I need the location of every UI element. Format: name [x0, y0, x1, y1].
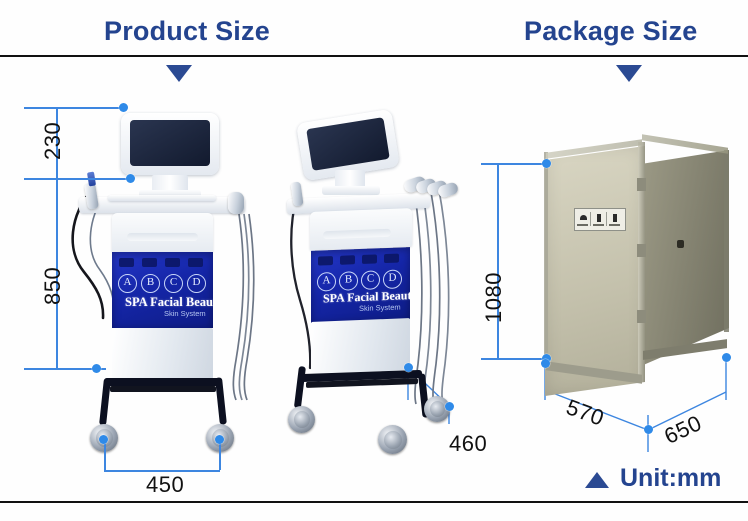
dimension-line-1080-bottom	[481, 358, 549, 360]
brand-subtitle-angled: Skin System	[359, 302, 401, 313]
port-letter-c-angled: C	[361, 270, 380, 290]
unit-label: Unit:mm	[620, 464, 721, 493]
port-letter-d: D	[187, 274, 206, 293]
port-slot-b	[142, 258, 157, 267]
brand-subtitle-front: Skin System	[164, 309, 206, 318]
port-slot-d	[188, 258, 203, 267]
tray-lip-front	[108, 195, 216, 201]
triangle-down-icon-product	[166, 65, 192, 82]
lower-body-angled	[311, 318, 410, 374]
cart-leg-left-front	[99, 378, 111, 425]
dimension-line-230-bottom	[24, 178, 130, 180]
dimension-label-450: 450	[146, 472, 184, 498]
dimension-line-1080-top	[481, 163, 549, 165]
dimension-dot-460-top	[404, 363, 413, 372]
infographic-canvas: Product Size Package Size	[0, 0, 748, 521]
port-slots-front	[112, 258, 213, 270]
triangle-up-icon-unit	[585, 472, 609, 488]
footer-divider-rule	[0, 501, 748, 503]
dimension-label-570: 570	[563, 394, 608, 432]
caster-wheel-angled-left	[288, 406, 315, 433]
port-letter-a: A	[118, 274, 137, 293]
caster-wheel-angled-front	[378, 425, 407, 454]
dimension-dot-450-right	[215, 435, 224, 444]
dimension-label-230: 230	[40, 122, 66, 160]
dimension-dot-450-left	[99, 435, 108, 444]
cart-leg-left-angled	[294, 366, 306, 409]
shipping-handling-label	[574, 208, 626, 231]
dimension-label-650: 650	[660, 410, 706, 450]
dimension-label-850: 850	[40, 267, 66, 305]
product-size-heading: Product Size	[104, 16, 270, 47]
handpiece-angled-left	[290, 181, 303, 206]
cart-base-front	[110, 386, 216, 392]
dimension-line-230-top	[24, 107, 124, 109]
crate-front-face	[545, 146, 645, 396]
port-slot-a-angled	[318, 256, 333, 266]
crate-hinge-2	[637, 244, 646, 257]
crate-latch-hole	[677, 240, 684, 248]
port-letter-b: B	[141, 274, 160, 293]
dimension-dot-570-right	[644, 425, 653, 434]
package-size-heading: Package Size	[524, 16, 698, 47]
dimension-line-1080-vertical	[497, 163, 499, 358]
handpiece-front-right	[228, 192, 244, 214]
monitor-foot-angled	[322, 186, 380, 195]
port-slot-c	[165, 258, 180, 267]
monitor-screen-front	[130, 120, 210, 166]
control-panel-angled: A B C D SPA Facial Beauty Skin System	[311, 247, 410, 323]
crate-hinge-1	[637, 178, 646, 191]
dimension-dot-230-top	[119, 103, 128, 112]
port-letter-c: C	[164, 274, 183, 293]
dimension-dot-850	[92, 364, 101, 373]
dimension-label-1080: 1080	[481, 272, 507, 323]
lower-body-front	[112, 328, 213, 381]
crate-edge-top-right	[642, 134, 728, 154]
dimension-dot-1080-top	[542, 159, 551, 168]
dimension-dot-570-left	[541, 359, 550, 368]
port-slot-d-angled	[384, 254, 399, 264]
triangle-down-icon-package	[616, 65, 642, 82]
port-slot-c-angled	[362, 254, 377, 264]
crate-side-face	[641, 150, 729, 366]
port-letter-a-angled: A	[317, 272, 336, 292]
dimension-dot-650-right	[722, 353, 731, 362]
dimension-tick-450-right	[219, 440, 221, 470]
cart-leg-right-front	[215, 377, 227, 424]
port-slots-angled	[311, 253, 410, 269]
port-letter-d-angled: D	[383, 269, 402, 289]
dimension-dot-230-bottom	[126, 174, 135, 183]
crate-edge-left	[544, 152, 548, 364]
port-slot-a	[119, 258, 134, 267]
port-letter-b-angled: B	[339, 271, 358, 291]
port-slot-b-angled	[340, 255, 355, 265]
brand-text-front: SPA Facial Beauty	[125, 295, 213, 310]
header-divider-rule	[0, 55, 748, 57]
crate-edge-right	[724, 150, 729, 332]
dimension-tick-450-left	[104, 440, 106, 470]
cart-crossbar-front	[104, 378, 222, 386]
dimension-label-460: 460	[449, 431, 487, 457]
dimension-dot-460-bottom	[445, 402, 454, 411]
crate-hinge-3	[637, 310, 646, 323]
drawer-handle-front	[127, 233, 198, 241]
control-panel-front: A B C D SPA Facial Beauty Skin System	[112, 252, 213, 328]
